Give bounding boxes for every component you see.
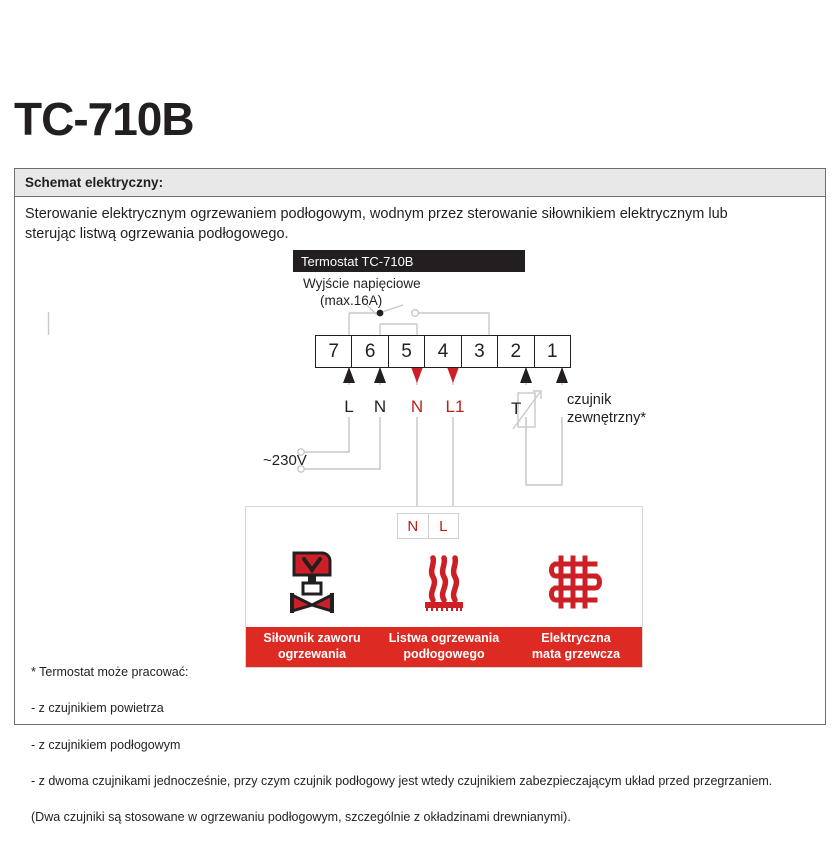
- relay-contact-dot-closed: [377, 310, 384, 317]
- terminal-2: 2: [498, 336, 534, 367]
- panel-header-label: Schemat elektryczny:: [25, 175, 163, 190]
- caption-valve-actuator-line1: Siłownik zaworu: [263, 631, 360, 645]
- terminal-7: 7: [316, 336, 352, 367]
- terminal-strip: 7 6 5 4 3 2 1: [315, 335, 571, 368]
- heating-strip-icon: [418, 552, 470, 617]
- wire-label-l1: L1: [440, 397, 470, 417]
- description-line-2: sterując listwą ogrzewania podłogowego.: [25, 225, 815, 245]
- voltage-output-label-line2: (max.16A): [320, 293, 382, 308]
- wire-label-t: T: [511, 399, 521, 419]
- footnote-line-4: - z dwoma czujnikami jednocześnie, przy …: [31, 772, 772, 790]
- wire-arrowheads: [343, 367, 568, 383]
- caption-heating-strip-line1: Listwa ogrzewania: [389, 631, 499, 645]
- leader-line: [367, 305, 377, 315]
- footnote-line-2: - z czujnikiem powietrza: [31, 699, 772, 717]
- description-line-1: Sterowanie elektrycznym ogrzewaniem podł…: [25, 205, 815, 225]
- footnote-line-3: - z czujnikiem podłogowym: [31, 736, 772, 754]
- relay-contact-dot-open: [412, 310, 419, 317]
- caption-heating-strip-line2: podłogowego: [403, 647, 484, 661]
- diagram-vector-layer: [15, 169, 827, 726]
- heating-strip-icon-cell: [378, 541, 510, 627]
- panel-header: Schemat elektryczny:: [15, 169, 825, 197]
- caption-heating-mat: Elektryczna mata grzewcza: [510, 627, 642, 667]
- thermistor-symbol: [513, 391, 541, 429]
- lower-wire-runs: [304, 417, 562, 513]
- page-title: TC-710B: [14, 96, 194, 142]
- load-terminal-n: N: [398, 514, 429, 538]
- caption-heating-mat-line2: mata grzewcza: [532, 647, 620, 661]
- arrow-terminal-1: [556, 367, 568, 383]
- terminal-4: 4: [425, 336, 461, 367]
- terminal-6: 6: [352, 336, 388, 367]
- supply-voltage-label: ~230V: [263, 452, 307, 469]
- relay-symbol: [349, 305, 489, 335]
- caption-heating-strip: Listwa ogrzewania podłogowego: [378, 627, 510, 667]
- terminal-1: 1: [535, 336, 570, 367]
- load-terminal-l: L: [429, 514, 459, 538]
- footnote-line-5: (Dwa czujniki są stosowane w ogrzewaniu …: [31, 808, 772, 826]
- valve-actuator-icon: [286, 551, 338, 618]
- external-sensor-caption: czujnik zewnętrzny*: [567, 391, 646, 427]
- schematic-panel: Schemat elektryczny: Sterowanie elektryc…: [14, 168, 826, 725]
- heating-mat-icon-cell: [510, 541, 642, 627]
- wire-label-l: L: [334, 397, 364, 417]
- thermostat-title-label: Termostat TC-710B: [301, 254, 413, 269]
- footnote-line-1: * Termostat może pracować:: [31, 663, 772, 681]
- caption-valve-actuator: Siłownik zaworu ogrzewania: [246, 627, 378, 667]
- supply-node-n: [298, 466, 304, 472]
- caption-heating-mat-line1: Elektryczna: [541, 631, 610, 645]
- load-terminal-block: N L: [397, 513, 459, 539]
- arrow-terminal-5: [411, 367, 423, 383]
- external-sensor-caption-line2: zewnętrzny*: [567, 409, 646, 427]
- arrow-terminal-6: [374, 367, 386, 383]
- device-icon-row: [246, 541, 642, 627]
- heating-mat-icon: [547, 553, 605, 616]
- load-devices-box: [245, 506, 643, 668]
- wire-label-n: N: [365, 397, 395, 417]
- panel-description: Sterowanie elektrycznym ogrzewaniem podł…: [15, 197, 825, 244]
- footnotes: * Termostat może pracować: - z czujnikie…: [31, 645, 772, 844]
- supply-node-l: [298, 449, 304, 455]
- external-sensor-caption-line1: czujnik: [567, 391, 646, 409]
- terminal-wires: [349, 368, 562, 385]
- wire-label-n-red: N: [402, 397, 432, 417]
- caption-valve-actuator-line2: ogrzewania: [278, 647, 346, 661]
- arrow-terminal-4: [447, 367, 459, 383]
- device-caption-row: Siłownik zaworu ogrzewania Listwa ogrzew…: [246, 627, 642, 667]
- terminal-3: 3: [462, 336, 498, 367]
- wiring-diagram: Termostat TC-710B Wyjście napięciowe (ma…: [15, 169, 827, 726]
- voltage-output-label-line1: Wyjście napięciowe: [303, 276, 421, 291]
- arrow-terminal-2: [520, 367, 532, 383]
- arrow-terminal-7: [343, 367, 355, 383]
- valve-actuator-icon-cell: [246, 541, 378, 627]
- thermostat-title-bar: Termostat TC-710B: [293, 250, 525, 272]
- terminal-5: 5: [389, 336, 425, 367]
